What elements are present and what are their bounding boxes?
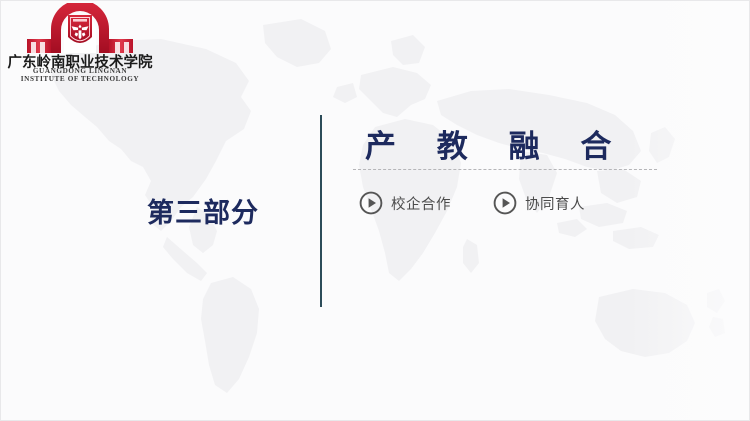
university-logo: 广东岭南职业技术学院 GUANGDONG LINGNAN INSTITUTE O… bbox=[5, 3, 155, 81]
bullet-item-1: 协同育人 bbox=[493, 191, 585, 215]
vertical-divider bbox=[320, 115, 322, 307]
bullet-item-0: 校企合作 bbox=[359, 191, 451, 215]
section-number-label: 第三部分 bbox=[147, 191, 259, 230]
logo-name-en-line1: GUANGDONG LINGNAN bbox=[5, 67, 155, 75]
university-gate-emblem bbox=[23, 3, 137, 53]
play-circle-icon bbox=[359, 191, 383, 215]
bullet-item-label: 协同育人 bbox=[525, 193, 585, 214]
page-title: 产 教 融 合 bbox=[365, 121, 626, 166]
play-circle-icon bbox=[493, 191, 517, 215]
bullet-item-label: 校企合作 bbox=[391, 193, 451, 214]
presentation-slide: 广东岭南职业技术学院 GUANGDONG LINGNAN INSTITUTE O… bbox=[0, 0, 750, 421]
dashed-rule bbox=[353, 169, 657, 170]
logo-name-en-line2: INSTITUTE OF TECHNOLOGY bbox=[5, 75, 155, 83]
right-edge-sheen bbox=[629, 1, 749, 421]
